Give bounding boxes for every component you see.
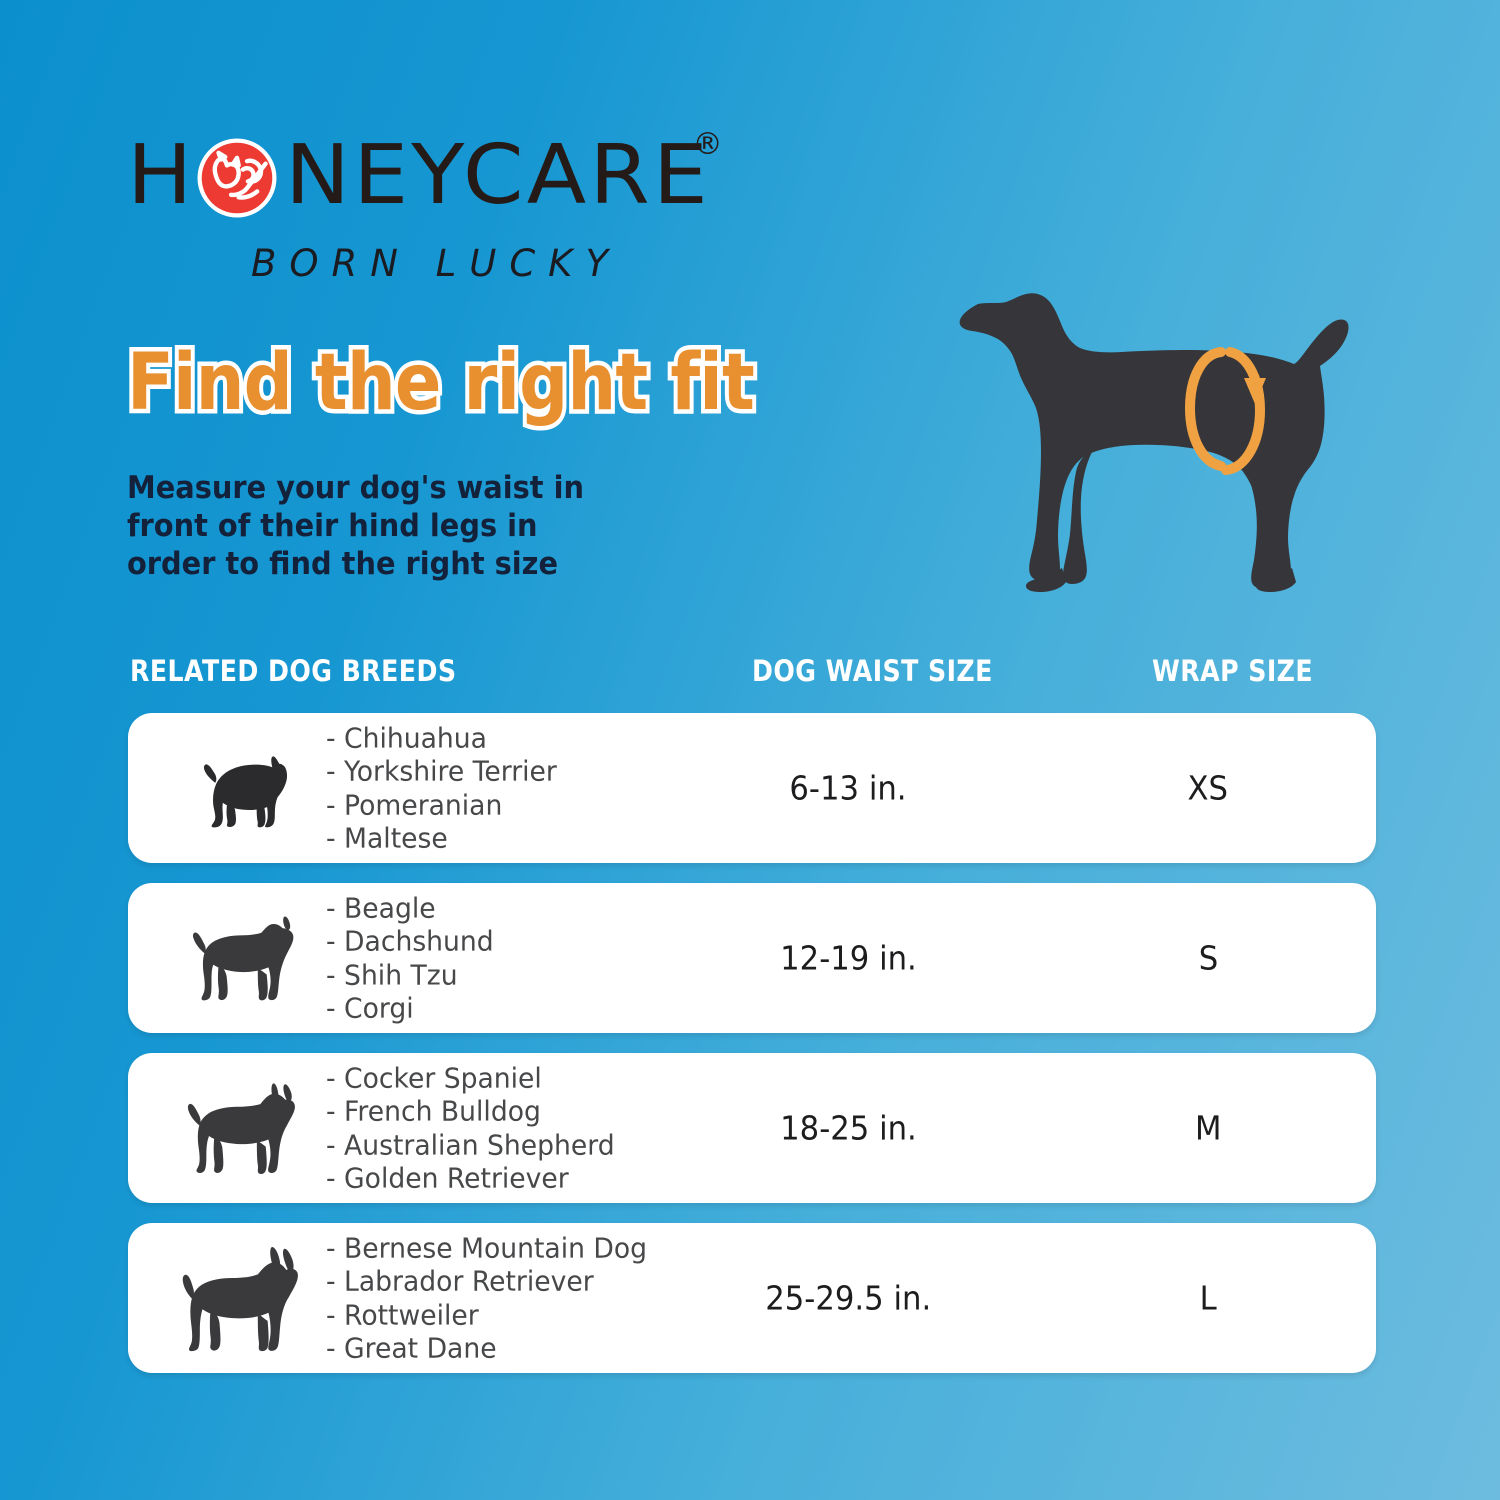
wrap-size-text: XS xyxy=(1188,769,1229,808)
waist-size-text: 12-19 in. xyxy=(780,939,917,978)
small-dog-silhouette-icon xyxy=(158,713,338,863)
table-row[interactable]: - Cocker Spaniel - French Bulldog - Aust… xyxy=(128,1053,1376,1203)
waist-size-text: 6-13 in. xyxy=(789,769,906,808)
waist-size-value: 6-13 in. xyxy=(688,769,1008,808)
brand-logo: H NEYCARE ® xyxy=(127,128,847,285)
waist-size-value: 25-29.5 in. xyxy=(688,1279,1008,1318)
waist-size-value: 12-19 in. xyxy=(688,939,1008,978)
wrap-size-value: S xyxy=(1088,939,1328,978)
waist-size-text: 18-25 in. xyxy=(780,1109,917,1148)
dog-with-waist-measure-icon xyxy=(944,252,1364,612)
wrap-size-text: L xyxy=(1199,1279,1216,1318)
brand-name-prefix: H xyxy=(127,135,196,217)
wrap-size-text: M xyxy=(1195,1109,1221,1148)
brand-tagline: BORN LUCKY xyxy=(251,242,847,285)
wrap-size-value: L xyxy=(1088,1279,1328,1318)
breed-list: - Chihuahua - Yorkshire Terrier - Pomera… xyxy=(326,721,557,854)
wrap-size-text: S xyxy=(1198,939,1217,978)
breed-list: - Cocker Spaniel - French Bulldog - Aust… xyxy=(326,1061,615,1194)
table-row[interactable]: - Beagle - Dachshund - Shih Tzu - Corgi … xyxy=(128,883,1376,1033)
brand-name-suffix: NEYCARE xyxy=(285,135,711,217)
brand-wordmark: H NEYCARE ® xyxy=(127,128,847,224)
table-row[interactable]: - Chihuahua - Yorkshire Terrier - Pomera… xyxy=(128,713,1376,863)
column-header-waist: DOG WAIST SIZE xyxy=(752,654,993,688)
size-table: - Chihuahua - Yorkshire Terrier - Pomera… xyxy=(128,713,1376,1393)
table-row[interactable]: - Bernese Mountain Dog - Labrador Retrie… xyxy=(128,1223,1376,1373)
column-header-wrap: WRAP SIZE xyxy=(1152,654,1313,688)
registered-trademark-icon: ® xyxy=(693,127,723,162)
medium-small-dog-silhouette-icon xyxy=(158,883,338,1033)
column-header-breeds: RELATED DOG BREEDS xyxy=(130,654,456,688)
medium-dog-silhouette-icon xyxy=(158,1053,338,1203)
waist-size-text: 25-29.5 in. xyxy=(765,1279,931,1318)
wrap-size-value: XS xyxy=(1088,769,1328,808)
measurement-instructions: Measure your dog's waist in front of the… xyxy=(127,470,584,583)
dog-paw-hand-circle-icon xyxy=(195,136,279,220)
wrap-size-value: M xyxy=(1088,1109,1328,1148)
size-chart-page: H NEYCARE ® xyxy=(0,0,1500,1500)
breed-list: - Beagle - Dachshund - Shih Tzu - Corgi xyxy=(326,891,494,1024)
breed-list: - Bernese Mountain Dog - Labrador Retrie… xyxy=(326,1231,647,1364)
page-title: Find the right fit xyxy=(127,344,754,422)
large-dog-silhouette-icon xyxy=(158,1223,338,1373)
waist-size-value: 18-25 in. xyxy=(688,1109,1008,1148)
